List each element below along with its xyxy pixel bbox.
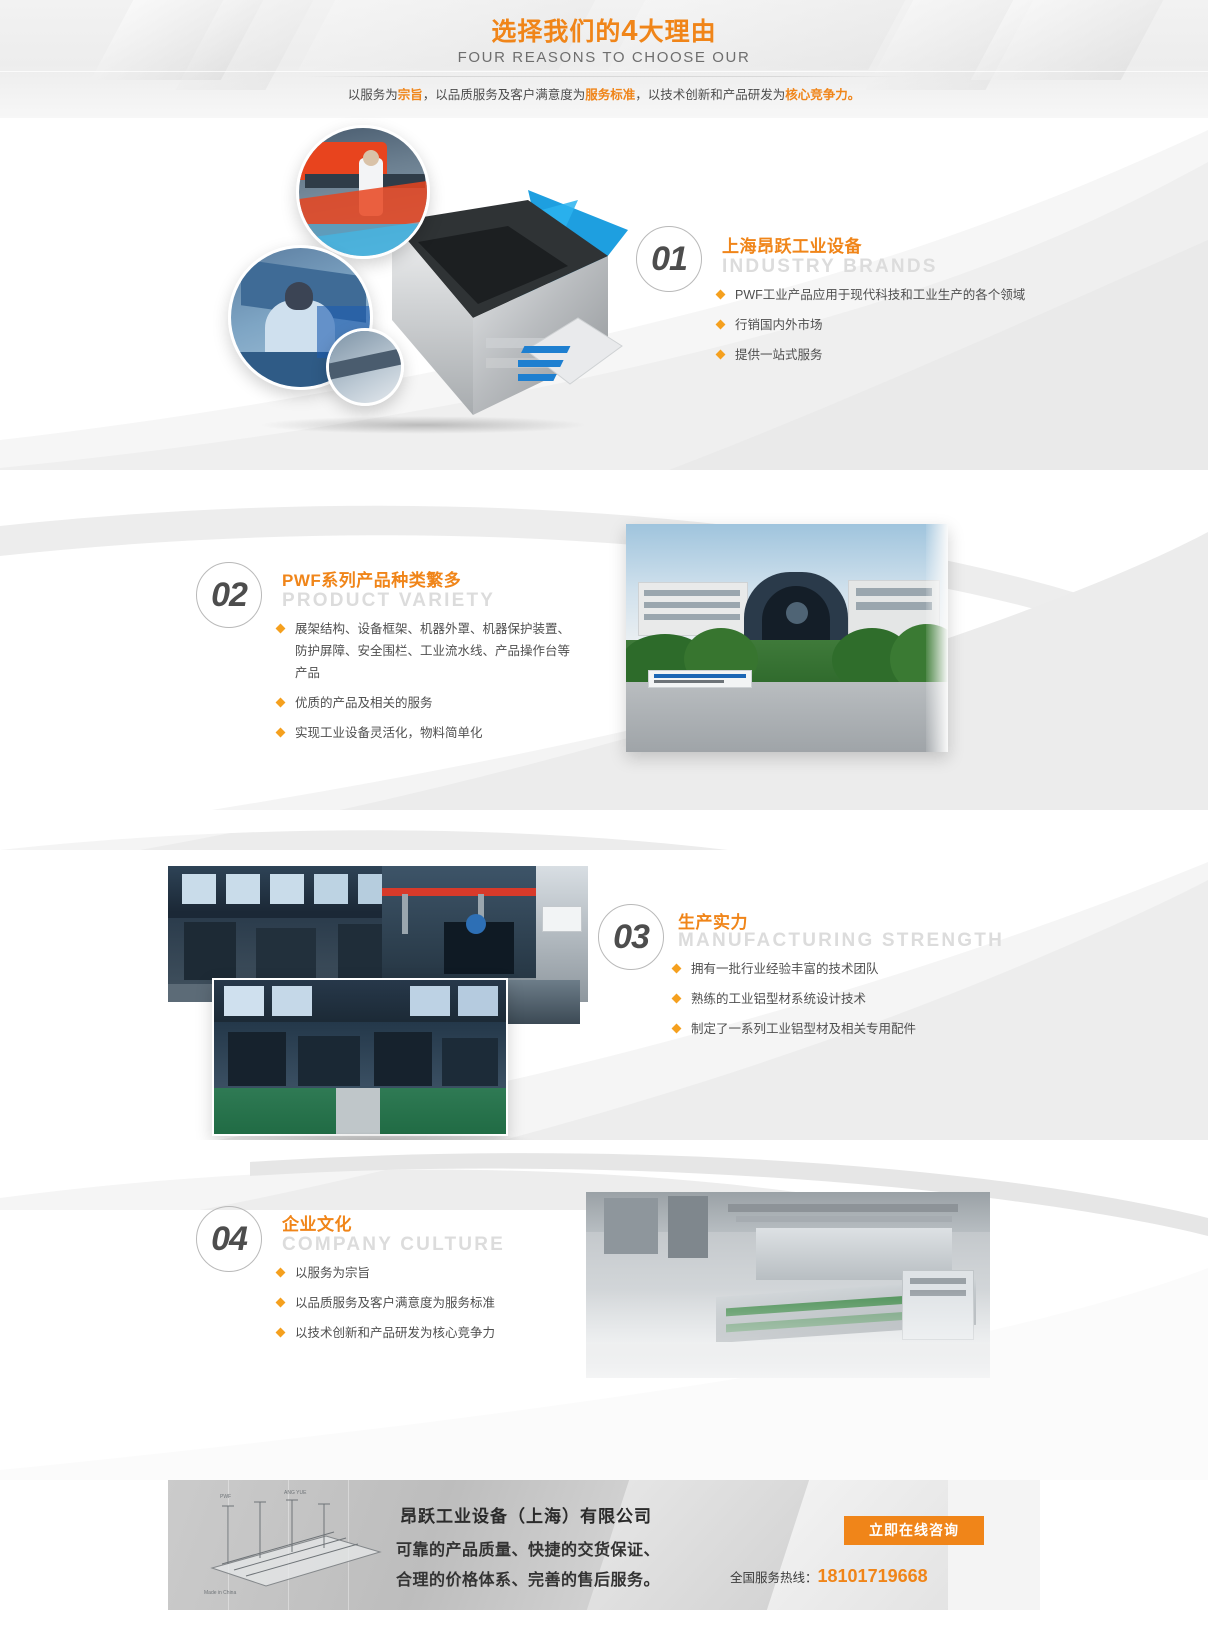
product-lineart-diagram: PWF ANG YUE Made in China (194, 1490, 394, 1602)
page-title-prefix: 选择我们的 (491, 18, 621, 46)
list-item: 优质的产品及相关的服务 (276, 692, 576, 714)
list-item: 展架结构、设备框架、机器外罩、机器保护装置、防护屏障、安全围栏、工业流水线、产品… (276, 618, 576, 684)
section2-background-swoosh (0, 470, 1208, 850)
diamond-bullet-icon (276, 1298, 286, 1308)
assembly-hall-photo (212, 978, 508, 1136)
list-item-label: 提供一站式服务 (735, 348, 823, 362)
section-title-04: 企业文化 (282, 1210, 352, 1235)
footer-tagline-line2: 合理的价格体系、完善的售后服务。 (396, 1566, 660, 1590)
section-title-01: 上海昂跃工业设备 (722, 232, 862, 257)
diamond-bullet-icon (276, 698, 286, 708)
image-group-shadow (218, 1132, 538, 1148)
section-subtitle-04: COMPANY CULTURE (282, 1234, 505, 1256)
list-item: 行销国内外市场 (716, 314, 1025, 336)
slogan-seg-accent: 宗旨 (398, 88, 423, 102)
list-item-label: 拥有一批行业经验丰富的技术团队 (691, 962, 879, 976)
svg-text:Made in China: Made in China (204, 1590, 236, 1596)
factory-entrance-photo (626, 524, 948, 752)
diamond-bullet-icon (716, 350, 726, 360)
section3-image-group (168, 866, 588, 1136)
list-item: 以服务为宗旨 (276, 1262, 495, 1284)
promo-page: 选择我们的4大理由 FOUR REASONS TO CHOOSE OUR 以服务… (0, 0, 1208, 1647)
page-subtitle-en: FOUR REASONS TO CHOOSE OUR (0, 49, 1208, 66)
list-item-label: 实现工业设备灵活化，物料简单化 (295, 726, 483, 740)
hotline-label: 全国服务热线： (730, 1571, 818, 1585)
slogan-seg-accent: 核心竞争力。 (785, 88, 860, 102)
page-header: 选择我们的4大理由 FOUR REASONS TO CHOOSE OUR 以服务… (0, 0, 1208, 118)
section-subtitle-01: INDUSTRY BRANDS (722, 256, 938, 278)
section-bullets-04: 以服务为宗旨 以品质服务及客户满意度为服务标准 以技术创新和产品研发为核心竞争力 (276, 1262, 495, 1352)
list-item: 以品质服务及客户满意度为服务标准 (276, 1292, 495, 1314)
footer-company-name: 昂跃工业设备（上海）有限公司 (400, 1502, 652, 1527)
list-item: 熟练的工业铝型材系统设计技术 (672, 988, 916, 1010)
footer-tagline-line1: 可靠的产品质量、快捷的交货保证、 (396, 1536, 660, 1560)
list-item-label: 以服务为宗旨 (295, 1266, 370, 1280)
header-divider (0, 71, 1208, 72)
parts-rack-photo (518, 310, 628, 420)
list-item-label: 展架结构、设备框架、机器外罩、机器保护装置、防护屏障、安全围栏、工业流水线、产品… (295, 622, 570, 680)
online-consult-button[interactable]: 立即在线咨询 (844, 1516, 984, 1545)
slogan-seg: 以服务为 (348, 88, 398, 102)
slogan-seg: ，以品质服务及客户满意度为 (423, 88, 586, 102)
slogan-seg-accent: 服务标准 (585, 88, 635, 102)
diamond-bullet-icon (276, 624, 286, 634)
page-title-number: 4 (621, 15, 638, 47)
header-rule (304, 76, 904, 77)
section-number-02: 02 (196, 562, 262, 628)
section-number-01: 01 (636, 226, 702, 292)
page-slogan: 以服务为宗旨，以品质服务及客户满意度为服务标准，以技术创新和产品研发为核心竞争力… (0, 84, 1208, 103)
section1-image-group (228, 120, 628, 450)
list-item: 制定了一系列工业铝型材及相关专用配件 (672, 1018, 916, 1040)
list-item-label: 熟练的工业铝型材系统设计技术 (691, 992, 866, 1006)
list-item-label: 以品质服务及客户满意度为服务标准 (295, 1296, 495, 1310)
list-item: 提供一站式服务 (716, 344, 1025, 366)
production-line-photo (586, 1192, 990, 1378)
section-number-03: 03 (598, 904, 664, 970)
list-item: PWF工业产品应用于现代科技和工业生产的各个领域 (716, 284, 1025, 306)
page-title: 选择我们的4大理由 (0, 12, 1208, 48)
hotline-number[interactable]: 18101719668 (818, 1566, 928, 1586)
diamond-bullet-icon (276, 1328, 286, 1338)
page-title-suffix: 大理由 (639, 18, 717, 46)
svg-text:ANG YUE: ANG YUE (284, 1490, 307, 1496)
section-number-04: 04 (196, 1206, 262, 1272)
diamond-bullet-icon (672, 994, 682, 1004)
section-subtitle-03: MANUFACTURING STRENGTH (678, 930, 1004, 952)
list-item: 实现工业设备灵活化，物料简单化 (276, 722, 576, 744)
list-item-label: PWF工业产品应用于现代科技和工业生产的各个领域 (735, 288, 1025, 302)
hotline-block: 全国服务热线：18101719668 (730, 1566, 928, 1587)
image-group-shadow (258, 416, 588, 434)
page-footer: PWF ANG YUE Made in China 昂跃工业设备（上海）有限公司… (168, 1480, 1040, 1610)
section-subtitle-02: PRODUCT VARIETY (282, 590, 495, 612)
section-bullets-02: 展架结构、设备框架、机器外罩、机器保护装置、防护屏障、安全围栏、工业流水线、产品… (276, 618, 576, 752)
list-item-label: 以技术创新和产品研发为核心竞争力 (295, 1326, 495, 1340)
section-bullets-03: 拥有一批行业经验丰富的技术团队 熟练的工业铝型材系统设计技术 制定了一系列工业铝… (672, 958, 916, 1048)
section-bullets-01: PWF工业产品应用于现代科技和工业生产的各个领域 行销国内外市场 提供一站式服务 (716, 284, 1025, 374)
worker-machine-photo (296, 125, 430, 259)
list-item-label: 优质的产品及相关的服务 (295, 696, 433, 710)
diamond-bullet-icon (716, 290, 726, 300)
list-item: 以技术创新和产品研发为核心竞争力 (276, 1322, 495, 1344)
diamond-bullet-icon (672, 1024, 682, 1034)
diamond-bullet-icon (276, 1268, 286, 1278)
diamond-bullet-icon (672, 964, 682, 974)
diamond-bullet-icon (716, 320, 726, 330)
section-title-02: PWF系列产品种类繁多 (282, 566, 461, 591)
svg-text:PWF: PWF (220, 1494, 231, 1500)
list-item: 拥有一批行业经验丰富的技术团队 (672, 958, 916, 980)
list-item-label: 制定了一系列工业铝型材及相关专用配件 (691, 1022, 916, 1036)
conveyor-detail-photo (326, 328, 404, 406)
slogan-seg: ，以技术创新和产品研发为 (635, 88, 785, 102)
diamond-bullet-icon (276, 728, 286, 738)
list-item-label: 行销国内外市场 (735, 318, 823, 332)
